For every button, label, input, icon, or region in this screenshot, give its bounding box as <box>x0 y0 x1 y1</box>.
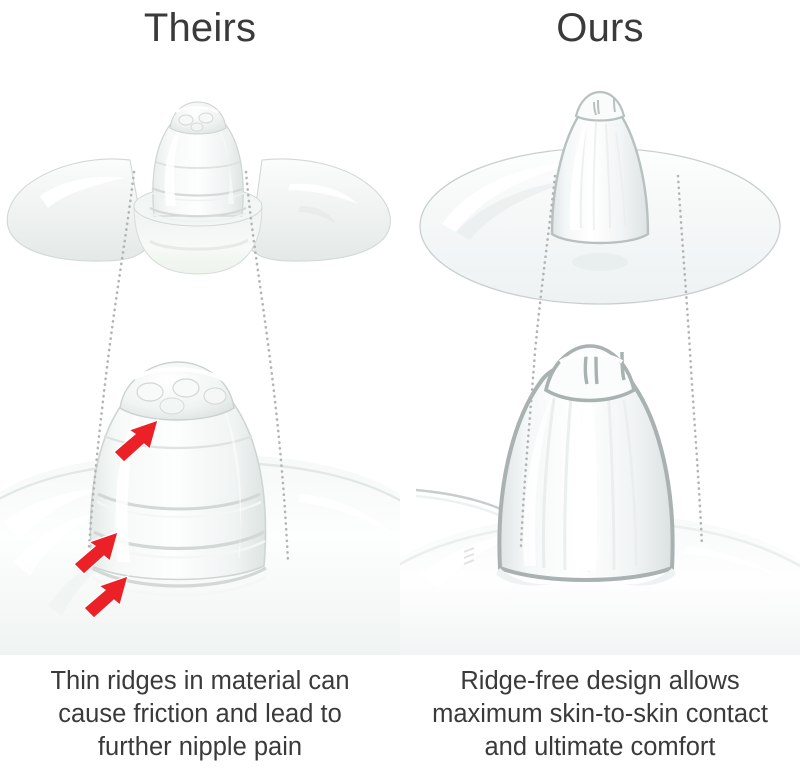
caption-ours-line-2: maximum skin-to-skin contact <box>432 698 768 731</box>
caption-theirs: Thin ridges in material can cause fricti… <box>0 660 400 769</box>
column-heading-ours: Ours <box>400 0 800 56</box>
caption-theirs-line-2: cause friction and lead to <box>58 698 342 731</box>
caption-ours-line-3: and ultimate comfort <box>484 731 715 764</box>
shield-cone-smooth <box>552 101 648 244</box>
shield-tip-detail <box>120 362 234 420</box>
product-image-ours-overview <box>400 56 800 318</box>
comparison-figure: Theirs Ours <box>0 0 800 769</box>
product-image-theirs-overview <box>0 56 400 318</box>
product-image-ours-detail <box>400 318 800 655</box>
shield-tip-detail <box>546 346 634 401</box>
caption-ours: Ridge-free design allows maximum skin-to… <box>400 660 800 769</box>
shield-tip <box>576 92 624 121</box>
caption-ours-line-1: Ridge-free design allows <box>460 665 739 698</box>
caption-theirs-line-3: further nipple pain <box>98 731 302 764</box>
column-heading-theirs: Theirs <box>0 0 400 56</box>
product-image-theirs-detail <box>0 318 400 655</box>
caption-theirs-line-1: Thin ridges in material can <box>50 665 349 698</box>
shield-tip <box>170 102 226 134</box>
